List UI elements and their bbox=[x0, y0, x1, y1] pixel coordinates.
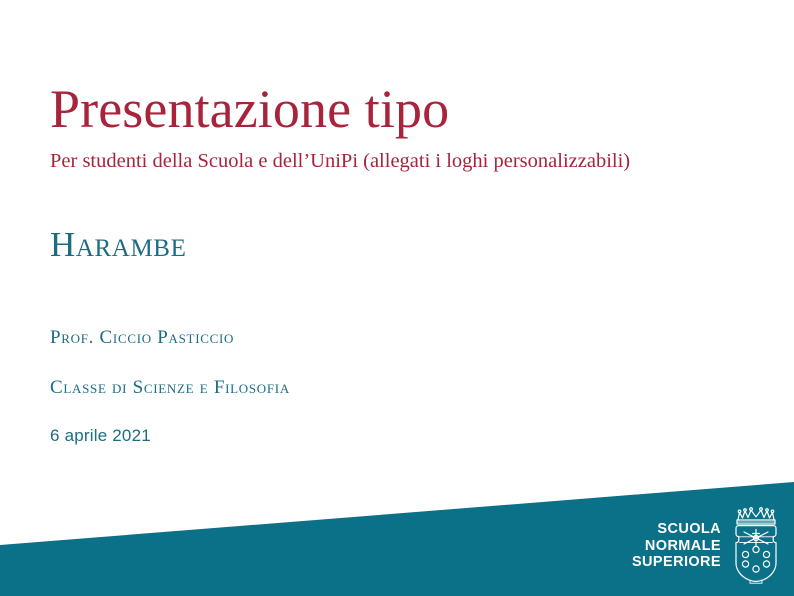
class-name: Classe di Scienze e Filosofia bbox=[50, 377, 734, 400]
page-title: Presentazione tipo bbox=[50, 82, 734, 137]
page-subtitle: Per studenti della Scuola e dell’UniPi (… bbox=[50, 149, 734, 174]
logo-line-1: SCUOLA bbox=[632, 521, 721, 538]
shield-balls bbox=[742, 546, 769, 572]
logo-line-3: SUPERIORE bbox=[632, 554, 721, 571]
presentation-date: 6 aprile 2021 bbox=[50, 426, 734, 446]
author-name: Prof. Ciccio Pasticcio bbox=[50, 327, 734, 350]
slide-content: Presentazione tipo Per studenti della Sc… bbox=[50, 82, 734, 446]
presentation-slide: Presentazione tipo Per studenti della Sc… bbox=[0, 0, 794, 596]
crown-pearls bbox=[738, 508, 774, 520]
institution-logo: SCUOLA NORMALE SUPERIORE bbox=[632, 505, 782, 587]
logo-wordmark: SCUOLA NORMALE SUPERIORE bbox=[632, 521, 721, 571]
cross-emblem bbox=[744, 530, 768, 547]
section-heading: Harambe bbox=[50, 226, 734, 265]
crest-icon bbox=[730, 507, 782, 585]
logo-line-2: NORMALE bbox=[632, 538, 721, 555]
